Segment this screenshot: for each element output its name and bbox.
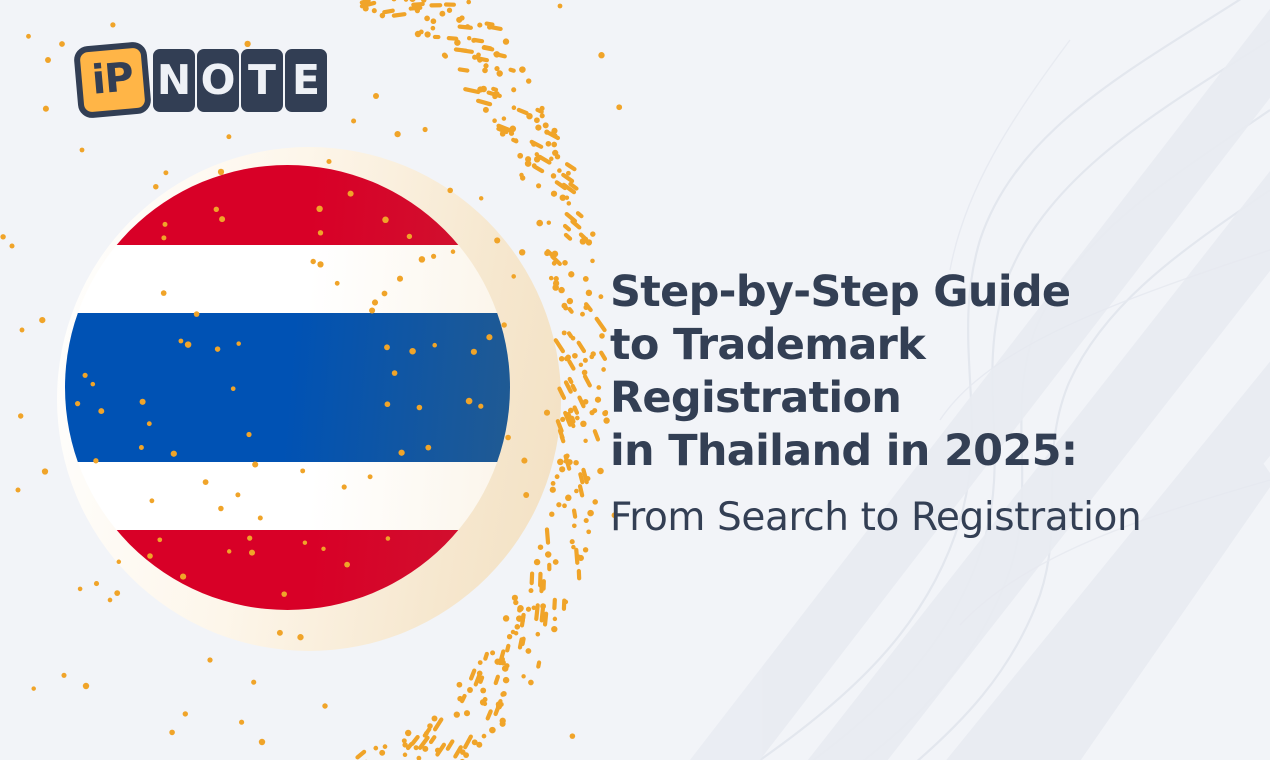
flag-stripe-white-bottom: [65, 462, 510, 530]
headline-block: Step-by-Step Guide to Trademark Registra…: [610, 266, 1230, 541]
headline-line-1: Step-by-Step Guide: [610, 267, 1070, 317]
headline-line-3: in Thailand in 2025:: [610, 426, 1077, 476]
logo-letter-n: N: [153, 49, 195, 112]
headline-line-2: to Trademark Registration: [610, 320, 925, 423]
flag-stripe-red-top: [65, 165, 510, 245]
logo-letter-o: O: [197, 49, 239, 112]
flag-stripe-red-bottom: [65, 530, 510, 610]
page-subtitle: From Search to Registration: [610, 495, 1230, 541]
logo-ip-text: iP: [90, 57, 134, 100]
thailand-flag-circle: [65, 165, 510, 610]
logo-letter-e: E: [285, 49, 327, 112]
page-title: Step-by-Step Guide to Trademark Registra…: [610, 266, 1230, 478]
hero-banner: iP N O T E Step-by-Step Guide to Tradema…: [0, 0, 1270, 760]
flag-stripe-blue: [65, 313, 510, 462]
flag-stripe-white-top: [65, 245, 510, 313]
logo-letter-tiles: N O T E: [153, 49, 327, 112]
logo-ip-tile: iP: [73, 41, 152, 119]
ipnote-logo[interactable]: iP N O T E: [76, 44, 327, 116]
logo-letter-t: T: [241, 49, 283, 112]
